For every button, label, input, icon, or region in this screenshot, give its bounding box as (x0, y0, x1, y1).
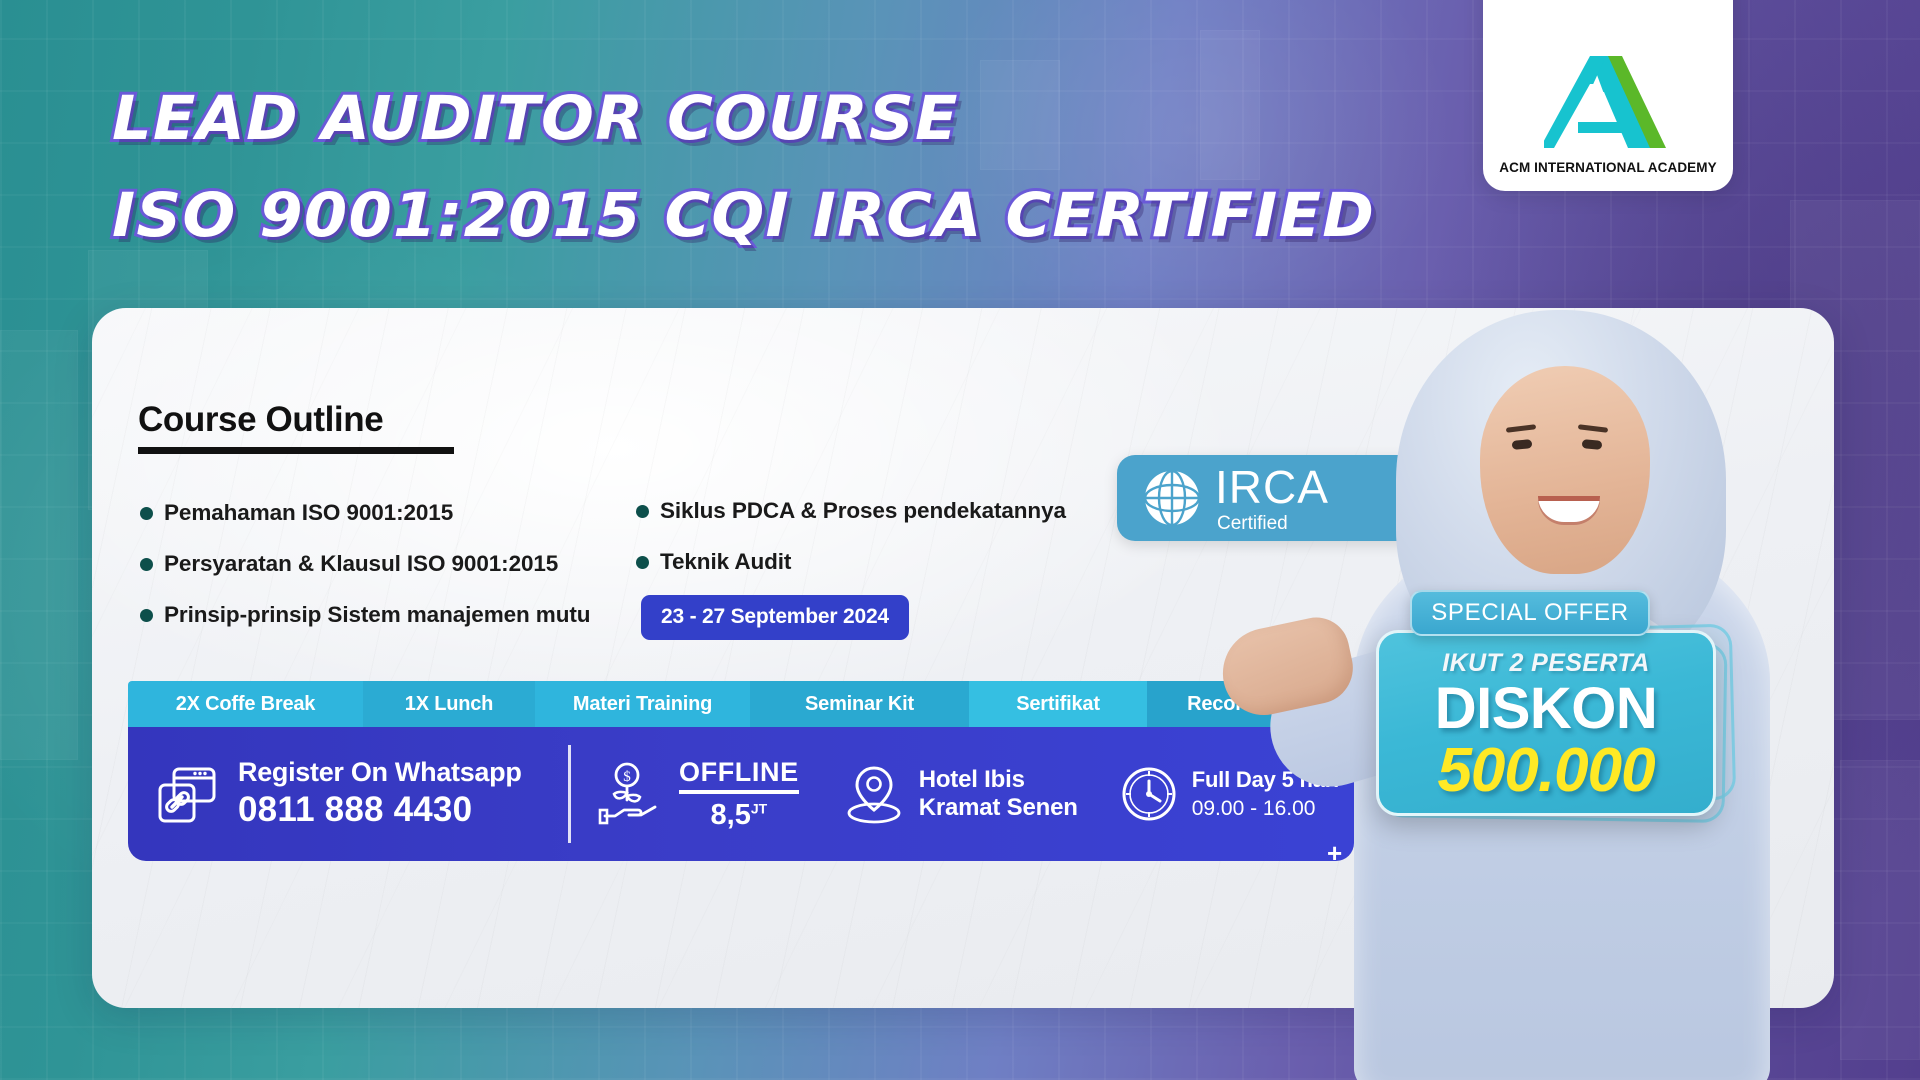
headline-line-1: LEAD AUDITOR COURSE (112, 88, 1375, 149)
register-block[interactable]: Register On Whatsapp 0811 888 4430 (128, 758, 568, 830)
price-value: 8,5 (711, 799, 751, 831)
inclusions-tab-strip: 2X Coffe Break 1X Lunch Materi Training … (128, 681, 1354, 727)
globe-icon (1143, 469, 1201, 527)
poster-canvas: ACM INTERNATIONAL ACADEMY LEAD AUDITOR C… (0, 0, 1920, 1080)
headline-line-2: ISO 9001:2015 CQI IRCA CERTIFIED (112, 185, 1375, 246)
bullet-dot-icon (140, 609, 153, 622)
list-item: Pemahaman ISO 9001:2015 (140, 500, 590, 526)
plus-icon: + (1327, 838, 1342, 869)
price-amount: 8,5JT (711, 801, 768, 830)
register-label: Register On Whatsapp (238, 758, 522, 788)
svg-text:$: $ (623, 769, 631, 785)
course-date-badge: 23 - 27 September 2024 (641, 595, 909, 640)
course-outline-header: Course Outline (138, 400, 454, 454)
tab-lunch[interactable]: 1X Lunch (363, 681, 535, 727)
list-item: Siklus PDCA & Proses pendekatannya (636, 498, 1066, 524)
list-item: Persyaratan & Klausul ISO 9001:2015 (140, 551, 590, 577)
venue-block: Hotel Ibis Kramat Senen (799, 762, 1078, 826)
tab-coffee-break[interactable]: 2X Coffe Break (128, 681, 363, 727)
list-item-label: Pemahaman ISO 9001:2015 (164, 500, 453, 526)
outline-list-right: Siklus PDCA & Proses pendekatannya Tekni… (636, 498, 1066, 600)
price-mode: OFFLINE (679, 759, 799, 794)
registration-bar: Register On Whatsapp 0811 888 4430 $ OFF… (128, 727, 1354, 861)
bullet-dot-icon (636, 556, 649, 569)
list-item: Teknik Audit (636, 549, 1066, 575)
special-offer-label: SPECIAL OFFER (1431, 599, 1629, 627)
offer-word: DISKON (1435, 680, 1658, 738)
location-pin-icon (843, 762, 905, 826)
outline-list-left: Pemahaman ISO 9001:2015 Persyaratan & Kl… (140, 500, 590, 653)
title-underline (138, 447, 454, 454)
list-item-label: Persyaratan & Klausul ISO 9001:2015 (164, 551, 558, 577)
bullet-dot-icon (140, 558, 153, 571)
presenter-eye (1582, 439, 1603, 450)
bullet-dot-icon (140, 507, 153, 520)
price-block: $ OFFLINE 8,5JT (571, 759, 799, 830)
price-unit: JT (751, 800, 767, 816)
page-title: LEAD AUDITOR COURSE ISO 9001:2015 CQI IR… (112, 88, 1350, 246)
tab-sertifikat[interactable]: Sertifikat (969, 681, 1147, 727)
offer-card: IKUT 2 PESERTA DISKON 500.000 (1376, 630, 1716, 816)
brand-logo-card: ACM INTERNATIONAL ACADEMY (1483, 0, 1733, 191)
brand-name: ACM INTERNATIONAL ACADEMY (1499, 160, 1717, 175)
special-offer-tag: SPECIAL OFFER (1410, 590, 1650, 636)
list-item-label: Siklus PDCA & Proses pendekatannya (660, 498, 1066, 524)
tab-seminar-kit[interactable]: Seminar Kit (750, 681, 969, 727)
irca-subtitle: Certified (1217, 514, 1329, 533)
irca-title: IRCA (1215, 464, 1329, 510)
list-item-label: Prinsip-prinsip Sistem manajemen mutu (164, 602, 590, 628)
bullet-dot-icon (636, 505, 649, 518)
venue-line-1: Hotel Ibis (919, 766, 1078, 794)
link-window-icon (156, 763, 218, 825)
money-plant-hand-icon: $ (597, 760, 665, 828)
venue-line-2: Kramat Senen (919, 794, 1078, 822)
offer-amount: 500.000 (1437, 740, 1654, 802)
course-outline-title: Course Outline (138, 400, 454, 440)
clock-icon (1120, 765, 1178, 823)
register-phone[interactable]: 0811 888 4430 (238, 790, 522, 830)
acm-triangle-logo-icon (1544, 50, 1672, 154)
list-item-label: Teknik Audit (660, 549, 791, 575)
presenter-face (1480, 366, 1650, 574)
duration-line-2: 09.00 - 16.00 (1192, 796, 1339, 821)
offer-condition: IKUT 2 PESERTA (1442, 649, 1650, 678)
tab-materi-training[interactable]: Materi Training (535, 681, 750, 727)
list-item: Prinsip-prinsip Sistem manajemen mutu (140, 602, 590, 628)
